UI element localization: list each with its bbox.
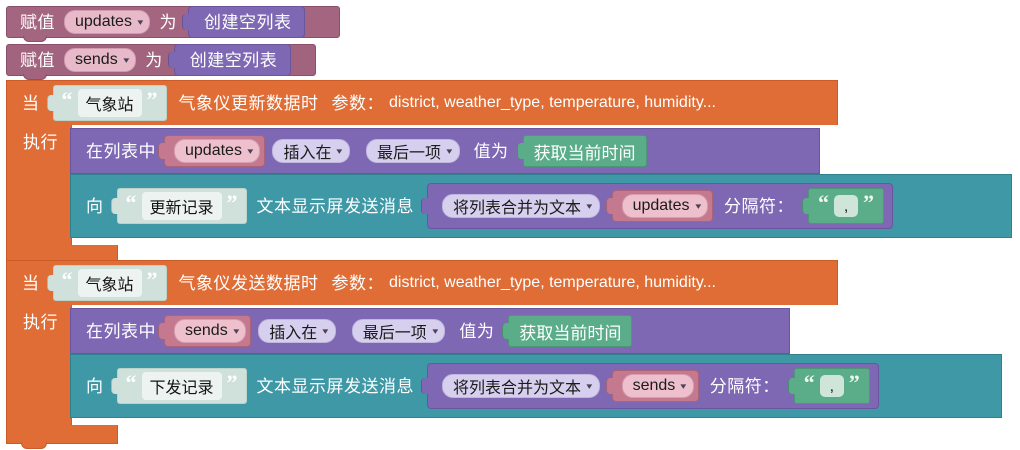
block-connector-notch <box>23 36 47 42</box>
close-quote-icon: ” <box>225 372 240 400</box>
close-quote-icon: ” <box>847 372 862 400</box>
insert-position-label: 最后一项 <box>363 319 427 343</box>
send-message-block-send[interactable]: 向 “ 下发记录 ” 文本显示屏发送消息 将列表合并为文本 ▾ sends ▾ … <box>70 354 1002 418</box>
close-quote-icon: ” <box>861 192 876 220</box>
params-label: 参数： <box>324 95 390 112</box>
variable-getter-updates[interactable]: updates ▾ <box>612 190 713 222</box>
do-label-wrapper: 执行 <box>18 128 68 156</box>
variable-dropdown-sends[interactable]: sends ▾ <box>174 319 246 343</box>
value-plug <box>182 14 191 30</box>
event-block-send-foot <box>6 425 118 444</box>
event-block-send-header[interactable]: 当 “ 气象站 ” 气象仪发送数据时 参数： district, weather… <box>6 260 838 305</box>
value-plug <box>421 378 430 394</box>
value-plug <box>158 323 167 339</box>
separator-label: 分隔符： <box>716 198 799 215</box>
create-empty-list-label: 创建空列表 <box>199 14 297 31</box>
event-name-label: 气象仪更新数据时 <box>167 95 324 112</box>
insert-position-label: 最后一项 <box>377 139 441 163</box>
component-string-block-send-record[interactable]: “ 下发记录 ” <box>117 368 247 404</box>
value-plug <box>788 378 797 394</box>
event-block-update-header[interactable]: 当 “ 气象站 ” 气象仪更新数据时 参数： district, weather… <box>6 80 838 125</box>
open-quote-icon: “ <box>60 269 75 297</box>
value-label: 值为 <box>449 323 499 340</box>
variable-getter-sends[interactable]: sends ▾ <box>612 370 699 402</box>
join-mode-label: 将列表合并为文本 <box>453 374 581 398</box>
close-quote-icon: ” <box>145 269 160 297</box>
text-string-block-separator[interactable]: “ , ” <box>794 368 870 404</box>
value-plug <box>802 198 811 214</box>
value-plug <box>502 323 511 339</box>
get-current-time-label: 获取当前时间 <box>534 139 636 164</box>
insert-position-dropdown[interactable]: 最后一项 ▾ <box>352 319 446 343</box>
chevron-down-icon: ▾ <box>137 17 143 28</box>
variable-name-label: updates <box>633 197 690 215</box>
variable-dropdown-updates[interactable]: updates ▾ <box>622 194 708 218</box>
component-string-block-weather-station[interactable]: “ 气象站 ” <box>53 265 167 301</box>
open-quote-icon: “ <box>124 192 139 220</box>
chevron-down-icon: ▾ <box>123 55 129 66</box>
chevron-down-icon: ▾ <box>446 146 452 157</box>
list-insert-prefix-label: 在列表中 <box>81 323 161 340</box>
join-list-with-text-block-send[interactable]: 将列表合并为文本 ▾ sends ▾ 分隔符： “ , ” <box>427 363 879 409</box>
variable-name-label: updates <box>185 142 242 160</box>
separator-input[interactable]: , <box>834 195 858 217</box>
list-insert-block-updates[interactable]: 在列表中 updates ▾ 插入在 ▾ 最后一项 ▾ 值为 获取当前时间 <box>70 128 820 174</box>
params-label: 参数： <box>324 275 390 292</box>
component-string-block-update-record[interactable]: “ 更新记录 ” <box>117 188 247 224</box>
variable-getter-sends[interactable]: sends ▾ <box>164 315 251 347</box>
variable-name-label: sends <box>633 377 676 395</box>
variable-dropdown-sends[interactable]: sends ▾ <box>622 374 694 398</box>
open-quote-icon: “ <box>802 372 817 400</box>
target-name-field[interactable]: 更新记录 <box>142 192 222 220</box>
send-message-action-label: 文本显示屏发送消息 <box>247 198 420 215</box>
value-plug <box>517 143 526 159</box>
send-message-block-update[interactable]: 向 “ 更新记录 ” 文本显示屏发送消息 将列表合并为文本 ▾ updates … <box>70 174 1012 238</box>
join-list-with-text-block-update[interactable]: 将列表合并为文本 ▾ updates ▾ 分隔符： “ , ” <box>427 183 893 229</box>
get-current-time-block[interactable]: 获取当前时间 <box>508 315 632 347</box>
block-connector-notch <box>21 442 47 449</box>
when-label: 当 <box>17 275 45 292</box>
params-value-label: district, weather_type, temperature, hum… <box>389 275 721 291</box>
set-variable-block-sends[interactable]: 赋值 sends ▾ 为 创建空列表 <box>6 44 316 76</box>
do-label: 执行 <box>18 314 63 331</box>
chevron-down-icon: ▾ <box>233 326 239 337</box>
variable-name-label: sends <box>75 51 118 69</box>
value-plug <box>606 378 615 394</box>
component-string-block-weather-station[interactable]: “ 气象站 ” <box>53 85 167 121</box>
chevron-down-icon: ▾ <box>695 201 701 212</box>
chevron-down-icon: ▾ <box>586 201 592 212</box>
value-plug <box>47 95 56 111</box>
set-keyword-label: 赋值 <box>15 14 60 31</box>
send-message-action-label: 文本显示屏发送消息 <box>247 378 420 395</box>
chevron-down-icon: ▾ <box>247 146 253 157</box>
value-plug <box>421 198 430 214</box>
get-current-time-label: 获取当前时间 <box>519 319 621 344</box>
join-mode-dropdown[interactable]: 将列表合并为文本 ▾ <box>442 374 600 398</box>
when-label: 当 <box>17 95 45 112</box>
open-quote-icon: “ <box>124 372 139 400</box>
params-value-label: district, weather_type, temperature, hum… <box>389 95 721 111</box>
create-empty-list-block-sends[interactable]: 创建空列表 <box>174 44 292 76</box>
value-plug <box>111 378 120 394</box>
set-variable-block-updates[interactable]: 赋值 updates ▾ 为 创建空列表 <box>6 6 340 38</box>
open-quote-icon: “ <box>60 89 75 117</box>
join-mode-label: 将列表合并为文本 <box>453 194 581 218</box>
chevron-down-icon: ▾ <box>681 381 687 392</box>
do-label: 执行 <box>18 134 63 151</box>
text-string-block-separator[interactable]: “ , ” <box>808 188 884 224</box>
get-current-time-block[interactable]: 获取当前时间 <box>523 135 647 167</box>
insert-mode-label: 插入在 <box>283 139 331 163</box>
component-name-field[interactable]: 气象站 <box>78 89 142 117</box>
chevron-down-icon: ▾ <box>432 326 438 337</box>
variable-getter-updates[interactable]: updates ▾ <box>164 135 265 167</box>
variable-name-label: updates <box>75 13 132 31</box>
variable-dropdown-updates[interactable]: updates ▾ <box>174 139 260 163</box>
separator-input[interactable]: , <box>820 375 844 397</box>
create-empty-list-label: 创建空列表 <box>185 52 283 69</box>
blockly-workspace[interactable]: 赋值 updates ▾ 为 创建空列表 赋值 sends ▾ 为 创建空列表 … <box>0 0 1020 450</box>
open-quote-icon: “ <box>816 192 831 220</box>
join-mode-dropdown[interactable]: 将列表合并为文本 ▾ <box>442 194 600 218</box>
insert-mode-dropdown[interactable]: 插入在 ▾ <box>272 139 350 163</box>
value-label: 值为 <box>464 143 514 160</box>
separator-label: 分隔符： <box>702 378 785 395</box>
set-connector-label: 为 <box>154 14 182 31</box>
value-plug <box>158 143 167 159</box>
to-label: 向 <box>81 378 109 395</box>
insert-mode-label: 插入在 <box>269 319 317 343</box>
list-insert-prefix-label: 在列表中 <box>81 143 161 160</box>
target-name-field[interactable]: 下发记录 <box>142 372 222 400</box>
insert-mode-dropdown[interactable]: 插入在 ▾ <box>258 319 336 343</box>
to-label: 向 <box>81 198 109 215</box>
chevron-down-icon: ▾ <box>323 326 329 337</box>
variable-dropdown-updates[interactable]: updates ▾ <box>64 10 150 34</box>
event-name-label: 气象仪发送数据时 <box>167 275 324 292</box>
close-quote-icon: ” <box>145 89 160 117</box>
value-plug <box>111 198 120 214</box>
do-label-wrapper: 执行 <box>18 308 68 336</box>
chevron-down-icon: ▾ <box>586 381 592 392</box>
variable-dropdown-sends[interactable]: sends ▾ <box>64 48 136 72</box>
create-empty-list-block-updates[interactable]: 创建空列表 <box>188 6 306 38</box>
component-name-field[interactable]: 气象站 <box>78 269 142 297</box>
set-keyword-label: 赋值 <box>15 52 60 69</box>
chevron-down-icon: ▾ <box>337 146 343 157</box>
value-plug <box>47 275 56 291</box>
variable-name-label: sends <box>185 322 228 340</box>
list-insert-block-sends[interactable]: 在列表中 sends ▾ 插入在 ▾ 最后一项 ▾ 值为 获取当前时间 <box>70 308 790 354</box>
value-plug <box>606 198 615 214</box>
insert-position-dropdown[interactable]: 最后一项 ▾ <box>366 139 460 163</box>
value-plug <box>168 52 177 68</box>
set-connector-label: 为 <box>140 52 168 69</box>
close-quote-icon: ” <box>225 192 240 220</box>
